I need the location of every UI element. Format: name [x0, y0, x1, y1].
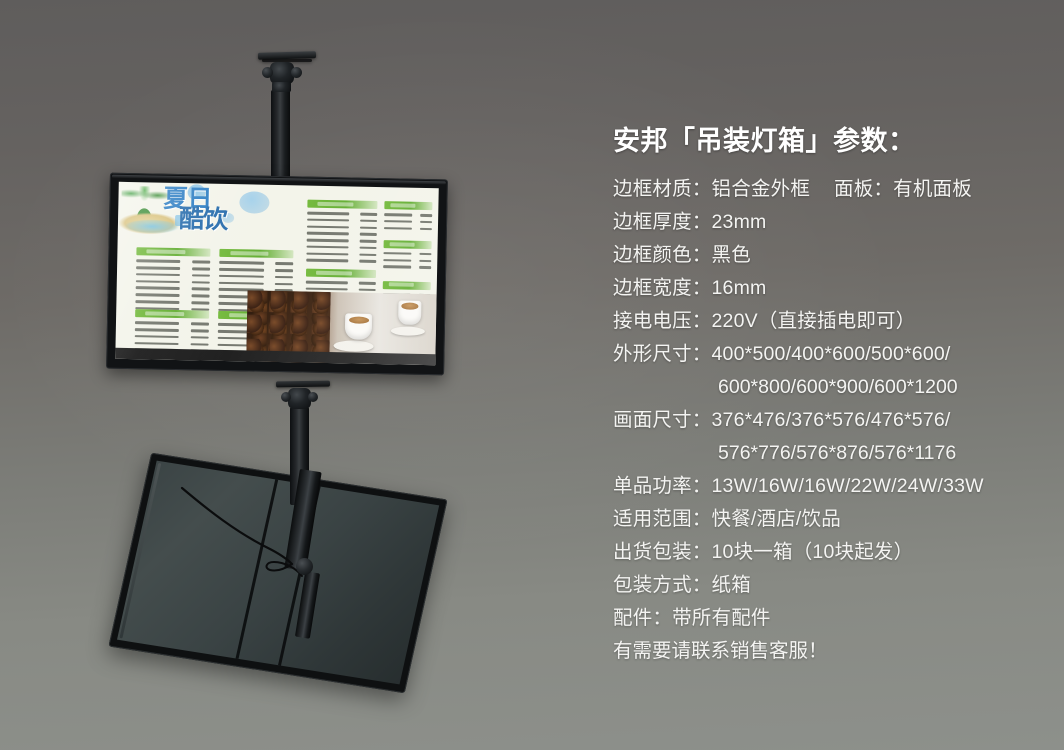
menu-section-7: [383, 240, 432, 272]
menu-hero-title: 夏日 酷饮: [163, 188, 228, 231]
menu-row: [306, 251, 376, 258]
spec-row-shipping: 出货包装：10块一箱（10块起发）: [613, 536, 1043, 569]
spec-row-packaging: 包装方式：纸箱: [613, 569, 1043, 602]
menu-row: [219, 280, 293, 287]
menu-row: [135, 327, 209, 334]
menu-row: [136, 292, 210, 299]
menu-section-header: [137, 248, 211, 257]
menu-row: [135, 340, 209, 347]
spec-value: 220V（直接插电即可）: [712, 310, 916, 332]
spec-value: 10块一箱（10块起发）: [712, 541, 914, 563]
menu-row: [219, 267, 293, 274]
spec-value: 铝合金外框: [712, 178, 811, 200]
menu-row: [306, 244, 376, 251]
lower-joint-knob-right: [308, 392, 318, 402]
menu-row: [136, 285, 210, 292]
spec-value: 黑色: [712, 244, 751, 266]
menu-row: [383, 225, 431, 231]
menu-row: [384, 212, 432, 218]
menu-row: [136, 265, 210, 272]
spec-label: 画面尺寸：: [613, 409, 712, 431]
spec-label: 包装方式：: [613, 574, 712, 596]
spec-title: 安邦「吊装灯箱」参数：: [613, 126, 1043, 156]
spec-label: 边框宽度：: [613, 277, 712, 299]
spec-value: 376*476/376*576/476*576/: [712, 409, 951, 431]
spec-row-graphic-size-cont: 576*776/576*876/576*1176: [613, 437, 1043, 470]
spec-row-outer-size-cont: 600*800/600*900/600*1200: [613, 371, 1043, 404]
menu-section-header: [307, 200, 378, 209]
menu-row: [306, 279, 376, 286]
spec-value: 400*500/400*600/500*600/: [712, 343, 951, 365]
power-cable: [150, 470, 350, 610]
upper-drop-pole: [271, 90, 290, 186]
menu-row: [136, 272, 210, 279]
menu-hero-title-line2: 酷饮: [179, 208, 227, 231]
spec-label: 配件：: [613, 607, 672, 629]
spec-row-material: 边框材质：铝合金外框面板：有机面板: [613, 173, 1043, 206]
spec-label-secondary: 面板：: [834, 178, 893, 200]
spec-row-graphic-size: 画面尺寸：376*476/376*576/476*576/: [613, 404, 1043, 437]
spec-row-power: 单品功率：13W/16W/16W/22W/24W/33W: [613, 470, 1043, 503]
spec-value: 带所有配件: [672, 607, 771, 629]
spec-value: 23mm: [712, 211, 767, 233]
menu-row: [307, 210, 377, 217]
spec-label: 边框颜色：: [613, 244, 712, 266]
menu-row: [135, 334, 209, 341]
menu-section-header: [135, 310, 209, 319]
spec-label: 边框厚度：: [613, 211, 712, 233]
spec-label: 边框材质：: [613, 178, 712, 200]
bracket-pivot-knob: [296, 558, 313, 575]
menu-row: [136, 299, 210, 306]
menu-row: [384, 219, 432, 225]
menu-row: [219, 273, 293, 280]
menu-row: [307, 217, 377, 224]
spec-row-thickness: 边框厚度：23mm: [613, 206, 1043, 239]
saucer-main: [333, 340, 373, 352]
spec-value: 快餐/酒店/饮品: [712, 508, 841, 530]
product-photo-scene: 夏日 酷饮: [0, 0, 1064, 750]
menu-row: [383, 251, 431, 257]
spec-label: 外形尺寸：: [613, 343, 712, 365]
menu-section-header: [220, 249, 294, 258]
spec-row-application: 适用范围：快餐/酒店/饮品: [613, 503, 1043, 536]
coffee-cup-back: [398, 301, 421, 325]
saucer-back: [390, 326, 424, 336]
menu-section-header: [306, 269, 377, 278]
menu-row: [136, 258, 210, 265]
spec-label: 接电电压：: [613, 310, 712, 332]
menu-section-0: [135, 248, 210, 314]
light-box-front[interactable]: 夏日 酷饮: [106, 173, 448, 376]
menu-row: [306, 237, 376, 244]
menu-section-header: [382, 281, 430, 290]
spec-label: 出货包装：: [613, 541, 712, 563]
spec-row-contact-cta: 有需要请联系销售客服！: [613, 635, 1043, 668]
menu-row: [135, 320, 209, 327]
spec-value: 16mm: [712, 277, 767, 299]
water-splash-right: [239, 191, 269, 214]
menu-section-header: [384, 201, 432, 210]
spec-row-accessories: 配件：带所有配件: [613, 602, 1043, 635]
spec-panel: 安邦「吊装灯箱」参数： 边框材质：铝合金外框面板：有机面板 边框厚度：23mm …: [613, 126, 1043, 668]
menu-row: [383, 264, 431, 270]
coffee-crema: [349, 316, 370, 324]
spec-label: 适用范围：: [613, 508, 712, 530]
spec-row-outer-size: 外形尺寸：400*500/400*600/500*600/: [613, 338, 1043, 371]
spec-value-secondary: 有机面板: [893, 178, 972, 200]
upper-joint-collar: [272, 82, 291, 92]
menu-section-header: [383, 240, 431, 249]
spec-value: 13W/16W/16W/22W/24W/33W: [712, 475, 984, 497]
menu-section-4: [306, 200, 378, 266]
menu-poster: 夏日 酷饮: [115, 182, 438, 365]
lower-mount-plate: [276, 381, 330, 388]
menu-hero-banner: 夏日 酷饮: [118, 182, 292, 246]
menu-row: [220, 260, 294, 267]
upper-joint-knob-right: [291, 67, 302, 78]
coffee-cup-main: [345, 314, 373, 341]
lower-joint-knob-left: [281, 392, 291, 402]
menu-row: [136, 279, 210, 286]
upper-joint-knob-left: [262, 67, 273, 78]
menu-row: [383, 257, 431, 263]
menu-section-6: [383, 201, 432, 233]
spec-value: 纸箱: [712, 574, 751, 596]
menu-row: [307, 224, 377, 231]
spec-row-color: 边框颜色：黑色: [613, 239, 1043, 272]
spec-row-voltage: 接电电压：220V（直接插电即可）: [613, 305, 1043, 338]
spec-label: 单品功率：: [613, 475, 712, 497]
menu-row: [306, 258, 376, 265]
menu-row: [307, 231, 377, 238]
coffee-crema-back: [401, 303, 419, 310]
spec-row-width: 边框宽度：16mm: [613, 272, 1043, 305]
